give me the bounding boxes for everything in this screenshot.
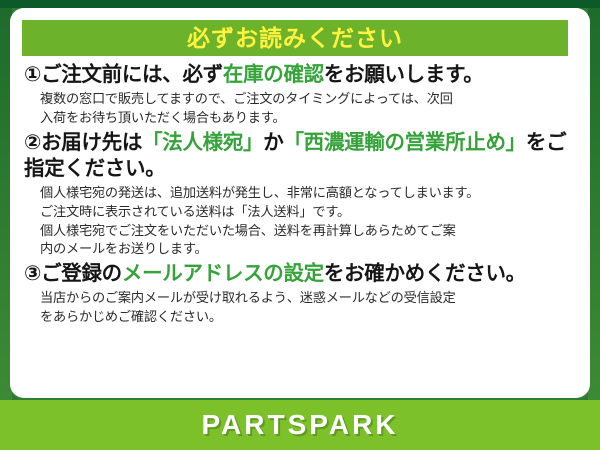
item-3-body-line-2: をあらかじめご確認ください。 — [40, 308, 576, 327]
item-2-body-line-4: 内のメールをお送りします。 — [40, 240, 576, 259]
item-2-heading-before: お届け先は — [41, 131, 142, 154]
header-banner: 必ずお読みください — [22, 20, 568, 56]
notice-list: ①ご注文前には、必ず在庫の確認をお願いします。 複数の窓口で販売してますので、ご… — [10, 56, 590, 327]
notice-item-2-heading: ②お届け先は「法人様宛」か「西濃運輸の営業所止め」をご指定ください。 — [24, 130, 576, 182]
notice-frame: 必ずお読みください ①ご注文前には、必ず在庫の確認をお願いします。 複数の窓口で… — [0, 0, 600, 450]
notice-item-3-body: 当店からのご案内メールが受け取れるよう、迷惑メールなどの受信設定 をあらかじめご… — [40, 289, 576, 326]
notice-item-2-body: 個人様宅宛の発送は、追加送料が発生し、非常に高額となってしまいます。 ご注文時に… — [40, 184, 576, 259]
item-3-heading-highlight: メールアドレスの設定 — [122, 262, 324, 285]
item-1-heading-before: ご注文前には、必ず — [41, 63, 223, 86]
notice-item-1-body: 複数の窓口で販売してますので、ご注文のタイミングによっては、次回 入荷をお待ち頂… — [40, 90, 576, 127]
notice-item-1: ①ご注文前には、必ず在庫の確認をお願いします。 複数の窓口で販売してますので、ご… — [24, 62, 576, 128]
footer-brand: PARTSPARK — [0, 400, 600, 450]
item-3-heading-after: をお確かめください。 — [324, 262, 526, 285]
brand-name: PARTSPARK — [201, 411, 398, 439]
notice-item-3: ③ご登録のメールアドレスの設定をお確かめください。 当店からのご案内メールが受け… — [24, 261, 576, 327]
notice-card: 必ずお読みください ①ご注文前には、必ず在庫の確認をお願いします。 複数の窓口で… — [10, 8, 590, 398]
item-1-heading-highlight: 在庫の確認 — [223, 63, 324, 86]
page-title: 必ずお読みください — [187, 27, 403, 50]
item-2-body-line-3: 個人様宅宛でご注文をいただいた場合、送料を再計算しあらためてご案 — [40, 222, 576, 241]
notice-item-3-heading: ③ご登録のメールアドレスの設定をお確かめください。 — [24, 261, 576, 287]
item-2-marker: ② — [24, 131, 41, 154]
item-1-body-line-2: 入荷をお待ち頂いただく場合もあります。 — [40, 109, 576, 128]
notice-item-2: ②お届け先は「法人様宛」か「西濃運輸の営業所止め」をご指定ください。 個人様宅宛… — [24, 130, 576, 259]
item-3-marker: ③ — [24, 262, 41, 285]
item-1-marker: ① — [24, 63, 41, 86]
item-2-heading-highlight-2: 「西濃運輸の営業所止め」 — [283, 131, 525, 154]
item-2-body-line-1: 個人様宅宛の発送は、追加送料が発生し、非常に高額となってしまいます。 — [40, 184, 576, 203]
notice-item-1-heading: ①ご注文前には、必ず在庫の確認をお願いします。 — [24, 62, 576, 88]
item-3-body-line-1: 当店からのご案内メールが受け取れるよう、迷惑メールなどの受信設定 — [40, 289, 576, 308]
item-2-heading-middle: か — [263, 131, 283, 154]
item-2-body-line-2: ご注文時に表示されている送料は「法人送料」です。 — [40, 203, 576, 222]
item-2-heading-highlight: 「法人様宛」 — [142, 131, 263, 154]
item-1-heading-after: をお願いします。 — [324, 63, 484, 86]
item-3-heading-before: ご登録の — [41, 262, 122, 285]
item-1-body-line-1: 複数の窓口で販売してますので、ご注文のタイミングによっては、次回 — [40, 90, 576, 109]
